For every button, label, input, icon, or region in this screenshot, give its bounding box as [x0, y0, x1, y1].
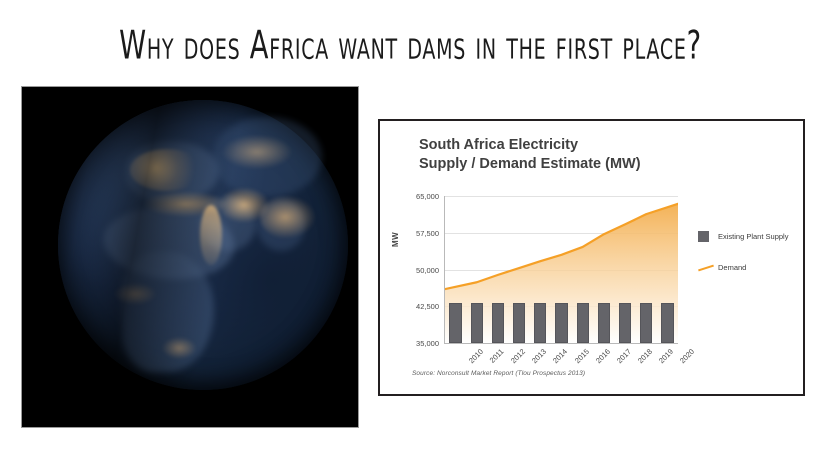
page-title: Why does Africa want dams in the first p… — [33, 22, 788, 69]
x-axis-tick-label: 2013 — [530, 347, 548, 365]
city-lights-india — [260, 195, 316, 239]
y-axis-tick-label: 42,500 — [397, 302, 439, 311]
chart-title: South Africa Electricity Supply / Demand… — [419, 136, 709, 174]
bar — [640, 303, 652, 343]
chart-title-line-1: South Africa Electricity — [419, 136, 709, 155]
bar — [661, 303, 673, 343]
legend-item: Existing Plant Supply — [698, 231, 802, 242]
bar — [619, 303, 631, 343]
chart-panel: South Africa Electricity Supply / Demand… — [378, 119, 805, 396]
y-axis-tick-label: 65,000 — [397, 192, 439, 201]
bar — [598, 303, 610, 343]
city-lights-russia — [222, 135, 292, 169]
y-axis-tick-label: 35,000 — [397, 339, 439, 348]
bar — [513, 303, 525, 343]
bar — [449, 303, 461, 343]
bar — [471, 303, 483, 343]
city-lights-south-africa — [162, 337, 196, 359]
chart-title-line-2: Supply / Demand Estimate (MW) — [419, 155, 709, 174]
legend-item-label: Demand — [718, 263, 746, 272]
legend-line-icon — [698, 262, 714, 273]
chart-legend: Existing Plant SupplyDemand — [698, 231, 802, 293]
legend-item-label: Existing Plant Supply — [718, 232, 788, 241]
bar — [577, 303, 589, 343]
legend-item: Demand — [698, 262, 802, 273]
x-axis-tick-label: 2015 — [572, 347, 590, 365]
x-axis-tick-label: 2010 — [466, 347, 484, 365]
bar — [555, 303, 567, 343]
city-lights-nile — [200, 205, 222, 265]
x-axis-tick-label: 2019 — [657, 347, 675, 365]
x-axis-tick-label: 2017 — [615, 347, 633, 365]
bar — [492, 303, 504, 343]
x-axis-tick-label: 2016 — [594, 347, 612, 365]
x-axis-tick-label: 2018 — [636, 347, 654, 365]
x-axis-tick-label: 2020 — [678, 347, 696, 365]
y-axis-tick-label: 50,000 — [397, 266, 439, 275]
plot-area — [444, 196, 678, 344]
x-axis-tick-label: 2014 — [551, 347, 569, 365]
plot-wrap: MW 35,00042,50050,00057,50065,000 201020… — [393, 185, 685, 375]
x-axis-tick-label: 2011 — [487, 347, 505, 365]
legend-square-icon — [698, 231, 709, 242]
x-axis-tick-label: 2012 — [509, 347, 527, 365]
city-lights-west-africa — [114, 283, 156, 305]
earth-at-night-image — [21, 86, 359, 428]
chart-source-note: Source: Norconsult Market Report (Tlou P… — [412, 370, 585, 377]
bar — [534, 303, 546, 343]
city-lights-europe — [130, 149, 204, 191]
y-axis-tick-label: 57,500 — [397, 229, 439, 238]
